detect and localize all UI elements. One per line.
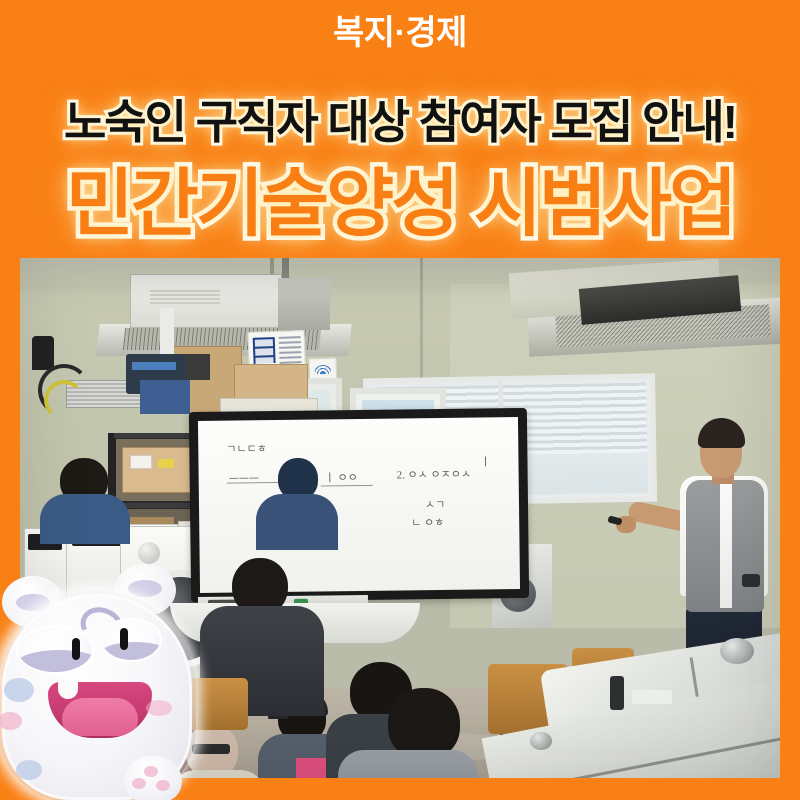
- mascot-paw: [124, 756, 182, 800]
- attendee-hoodie: [338, 750, 478, 778]
- mascot-tooth: [58, 682, 78, 699]
- category-label: 복지·경제: [0, 12, 800, 54]
- appliance-knob: [720, 638, 754, 664]
- photo-top-shade: [20, 258, 780, 298]
- mascot-paw-pad: [144, 766, 158, 777]
- tool-bag-stripe: [132, 362, 176, 370]
- mascot-ear-inner-right: [128, 580, 162, 597]
- instructor-vest: [686, 480, 764, 612]
- attendee-body: [256, 494, 338, 550]
- mascot-spot: [4, 678, 34, 702]
- wifi-icon: [315, 364, 331, 375]
- poster-badge: [253, 337, 276, 364]
- mascot-pupil-right: [120, 628, 128, 650]
- yellow-cable: [44, 380, 84, 420]
- promo-card: 복지·경제 노숙인 구직자 대상 참여자 모집 안내! 민간기술양성 시범사업: [0, 0, 800, 800]
- mascot-paw-pad: [132, 778, 146, 789]
- mascot-eye-left: [16, 626, 94, 674]
- mascot-blush: [146, 700, 172, 716]
- blue-bag: [140, 380, 190, 414]
- mascot: [0, 560, 208, 800]
- wall-bracket: [32, 336, 54, 370]
- appliance-knob-small: [530, 732, 552, 750]
- mascot-paw-pad: [156, 780, 170, 791]
- mascot-spot: [16, 760, 42, 780]
- mascot-pupil-left: [72, 638, 80, 660]
- mascot-eye-right: [100, 618, 162, 662]
- headline: 노숙인 구직자 대상 참여자 모집 안내!: [0, 93, 800, 151]
- paper-sheet: [632, 690, 672, 704]
- mascot-tongue: [62, 698, 138, 736]
- page-title: 민간기술양성 시범사업: [0, 158, 800, 250]
- mascot-eyelid-right: [100, 642, 162, 662]
- worker-body: [40, 494, 130, 544]
- mascot-eyelid-left: [16, 650, 94, 674]
- bottle: [610, 676, 624, 710]
- instructor-watch: [742, 574, 760, 587]
